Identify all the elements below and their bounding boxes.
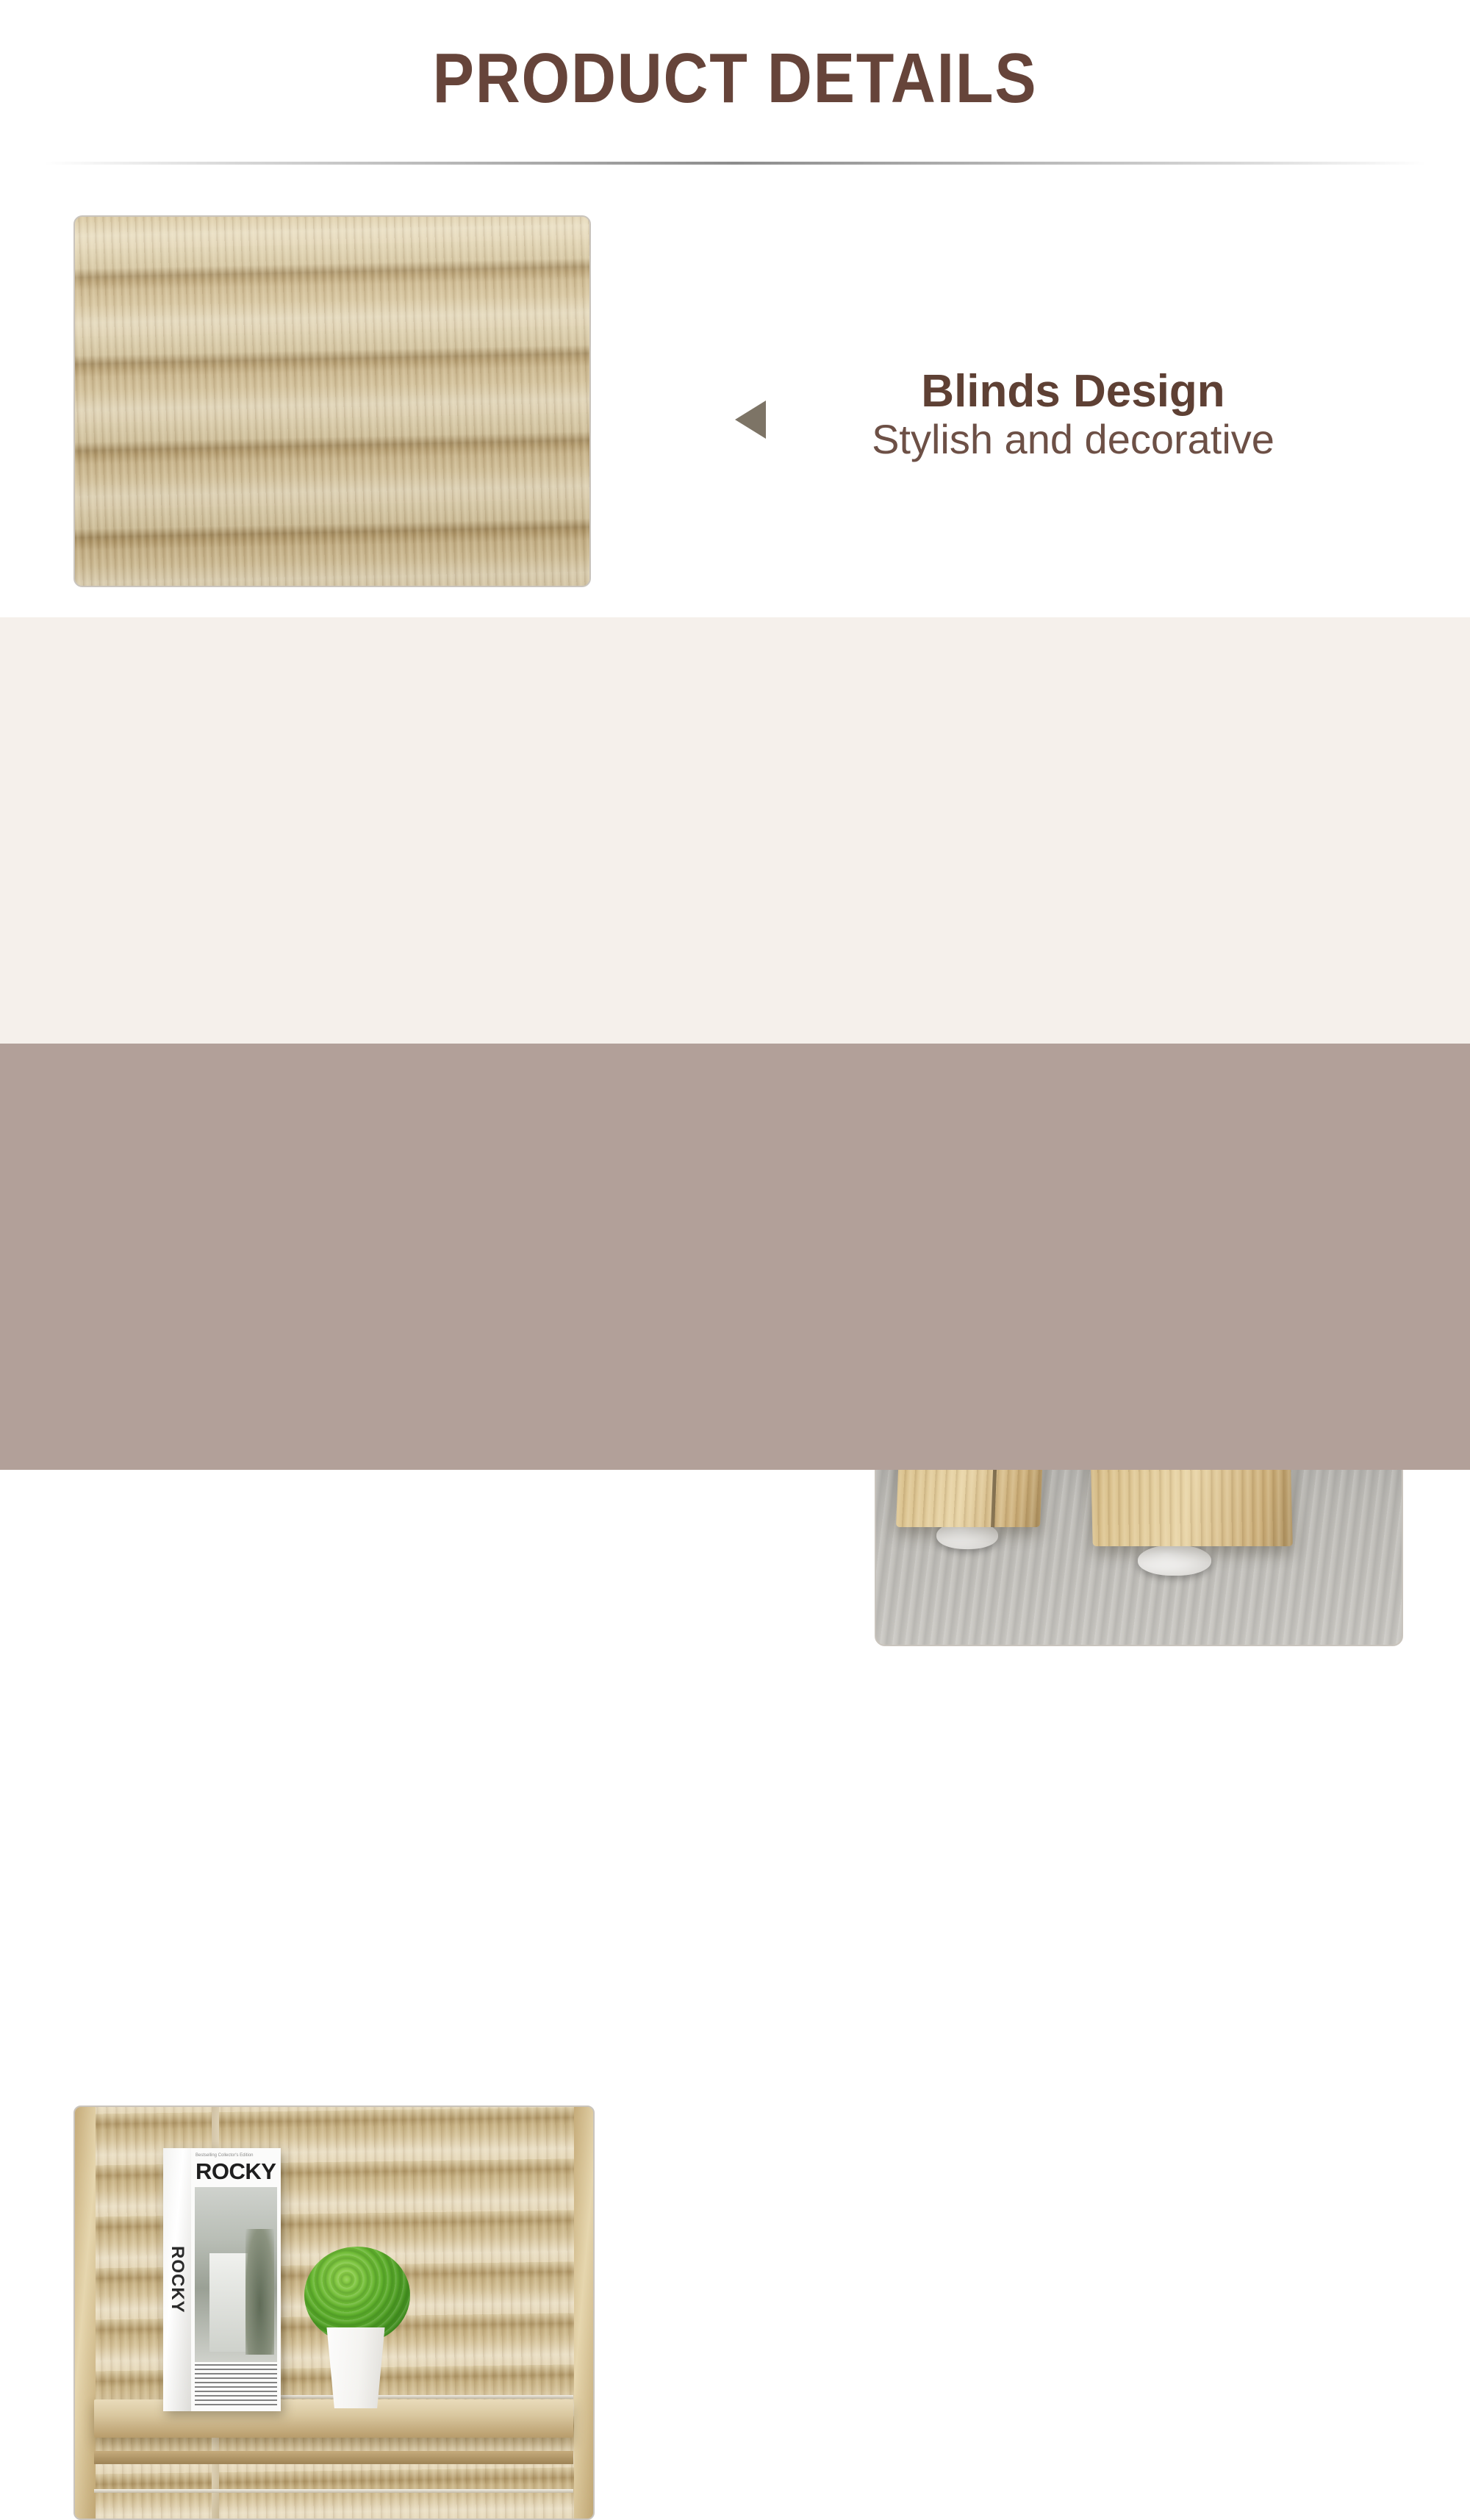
subline-display-shelves: More Space& Organise [764,2309,1382,2355]
section-band-elevated-base: Elevated Base Keep good ventilation [0,617,1470,1044]
header-divider [44,162,1426,165]
book-spine-title: ROCKY [167,2246,187,2313]
book-spine: ROCKY [163,2148,191,2411]
cabinet-foot-right [1138,1545,1211,1576]
frame-post-left [75,2107,96,2519]
arrow-left-icon [735,2293,766,2331]
caption-blinds-design: Blinds Design Stylish and decorative [779,367,1367,463]
book-cover-blurb-text [195,2364,277,2407]
book-cover-title: ROCKY [191,2158,281,2187]
image-display-shelves: ROCKY Bestselling Collector's Edition RO… [73,2106,595,2520]
subline-blinds-design: Stylish and decorative [779,417,1367,463]
product-details-infographic: PRODUCT DETAILS Blinds Design Stylish an… [0,0,1470,1470]
shelf-rail-lower [94,2489,573,2493]
section-band-blinds-design: PRODUCT DETAILS Blinds Design Stylish an… [0,0,1470,617]
book-kicker: Bestselling Collector's Edition [191,2148,281,2158]
book-cover: Bestselling Collector's Edition ROCKY [191,2148,281,2411]
headline-display-shelves: Display Shelves [764,2260,1382,2309]
image-blinds-design [73,215,591,587]
headline-blinds-design: Blinds Design [779,367,1367,417]
louvre-slats-texture [75,217,589,586]
arrow-left-icon [735,401,766,439]
caption-display-shelves: Display Shelves More Space& Organise [764,2260,1382,2355]
decor-book: ROCKY Bestselling Collector's Edition RO… [163,2148,281,2411]
shelf-board-edge [94,2451,573,2464]
page-title: PRODUCT DETAILS [88,38,1382,119]
section-band-display-shelves: ROCKY Bestselling Collector's Edition RO… [0,1044,1470,1470]
frame-post-right [574,2107,593,2519]
book-cover-photo [195,2187,277,2362]
